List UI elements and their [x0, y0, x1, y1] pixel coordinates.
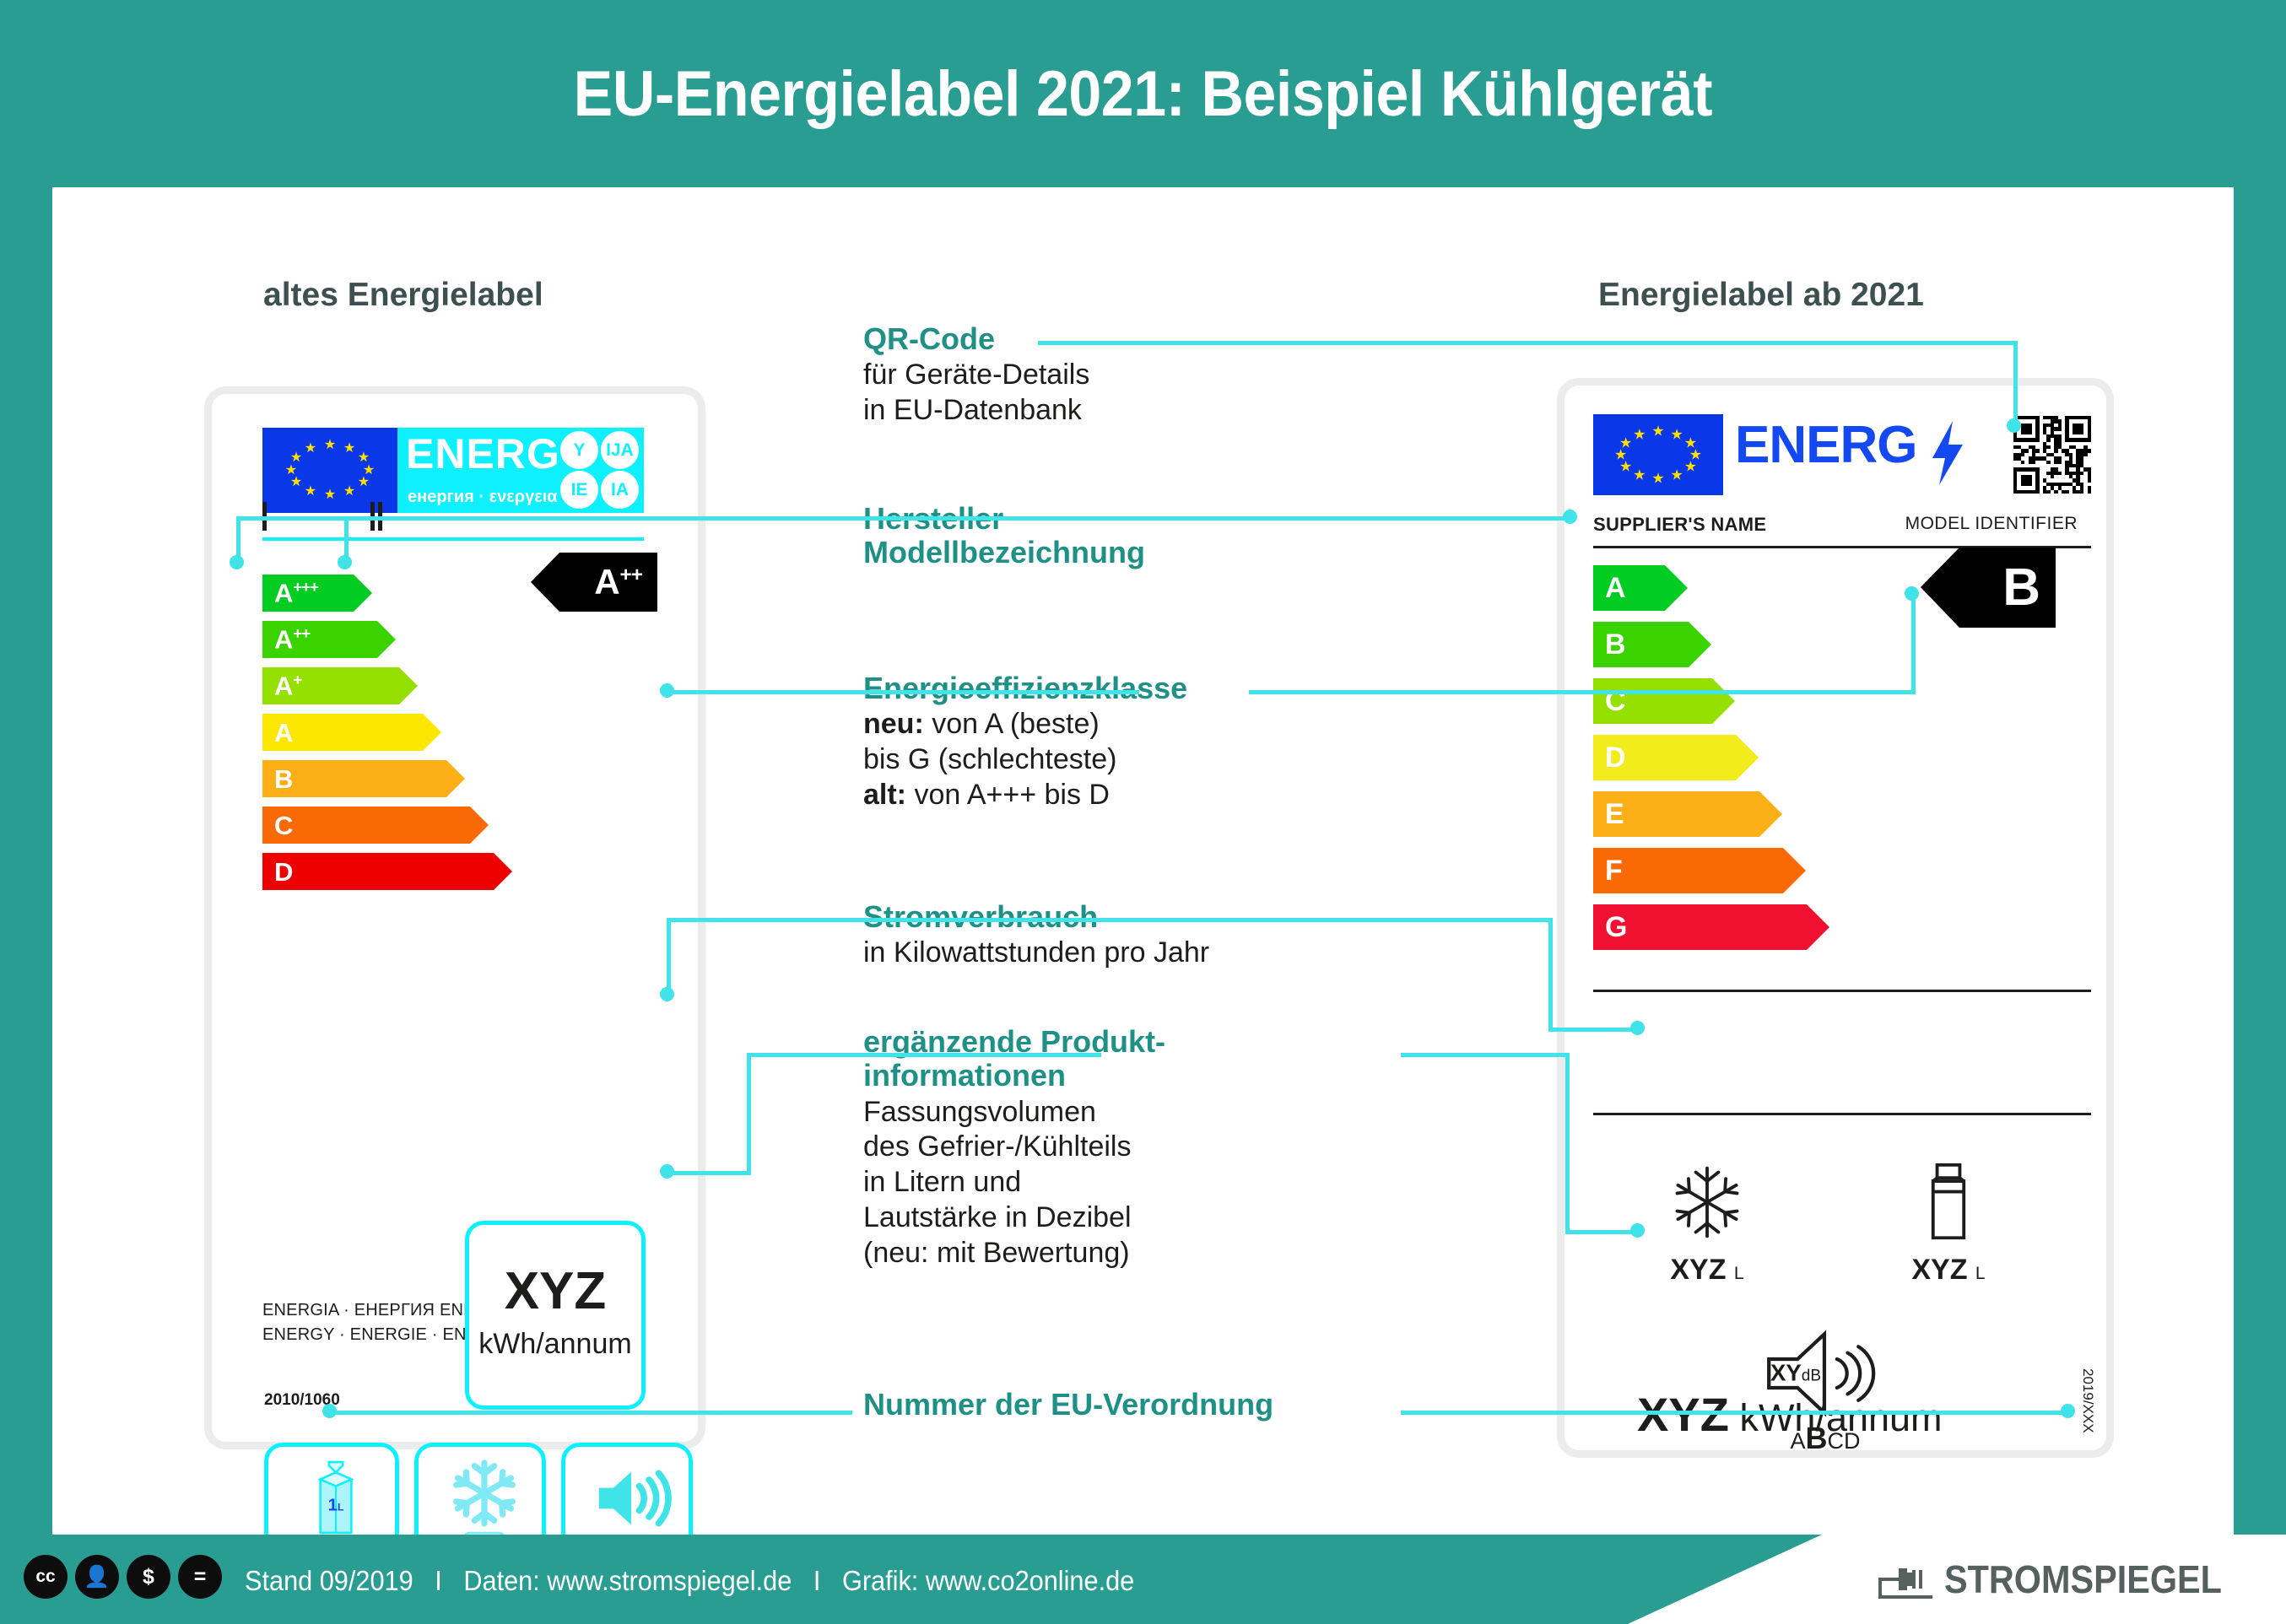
- connector-line-horizontal: [667, 1171, 751, 1175]
- class-arrow-g: G: [1593, 904, 1829, 950]
- class-arrow-label: B: [1593, 630, 1626, 659]
- eu-flag-icon: ★★★★★★★★★★★★: [1593, 414, 1723, 495]
- energ-circle-y: Y: [560, 431, 598, 469]
- annotation-body: neu: von A (beste)bis G (schlechteste)al…: [863, 707, 1319, 812]
- connector-line-horizontal: [1401, 1053, 1570, 1057]
- footer-credits: Stand 09/2019 I Daten: www.stromspiegel.…: [245, 1565, 1134, 1597]
- annotation-regulation: Nummer der EU-Verordnung: [863, 1388, 1386, 1422]
- class-arrow-label: D: [262, 859, 293, 885]
- milk-carton-icon: 1L: [310, 1460, 362, 1538]
- connector-dot: [660, 683, 674, 698]
- old-consumption-value: XYZ: [469, 1265, 641, 1318]
- annotation-title: ergänzende Produkt- informationen: [863, 1025, 1319, 1093]
- connector-line-horizontal: [236, 516, 1122, 521]
- annotation-body: in Kilowattstunden pro Jahr: [863, 936, 1319, 971]
- connector-line-horizontal: [329, 1411, 852, 1415]
- connector-dot: [2061, 1404, 2075, 1418]
- connector-dot: [660, 987, 674, 1001]
- class-arrow-label: G: [1593, 913, 1627, 941]
- old-consumption-unit: kWh/annum: [469, 1330, 641, 1358]
- class-arrow-label: A+: [262, 672, 301, 699]
- new-regulation-number: 2019/XXX: [2079, 1368, 2096, 1433]
- speaker-icon: XYdB: [1758, 1329, 1893, 1418]
- connector-line-horizontal: [1249, 690, 1916, 694]
- connector-line-vertical: [1548, 918, 1553, 1028]
- class-arrow-label: C: [262, 812, 293, 839]
- class-arrow-c: C: [262, 807, 489, 844]
- connector-dot: [1630, 1021, 1645, 1035]
- speaker-icon: [591, 1462, 672, 1535]
- model-identifier: MODEL IDENTIFIER: [1905, 514, 2078, 534]
- qr-code-icon[interactable]: [2013, 416, 2091, 494]
- annotation-body-line: alt: von A+++ bis D: [863, 778, 1319, 813]
- manufacturer-rule: [262, 537, 644, 541]
- energ-wordmark: ENERG: [1735, 419, 1916, 472]
- new-fridge-value: XYZ L: [1868, 1255, 2029, 1284]
- annotation-title: Hersteller Modellbezeichnung: [863, 502, 1319, 570]
- connector-line-vertical: [1911, 593, 1916, 690]
- class-arrow-d: D: [262, 853, 512, 890]
- class-arrow-label: A: [262, 720, 293, 746]
- connector-dot: [1630, 1223, 1645, 1238]
- license-icon-nc: $: [127, 1555, 170, 1599]
- connector-dot: [230, 555, 244, 569]
- old-badge-text: A++: [594, 562, 657, 602]
- connector-dot: [660, 1164, 674, 1179]
- old-energ-banner: ★★★★★★★★★★★★ ENERG енергия · ενεργεια YI…: [262, 428, 644, 513]
- connector-line-horizontal: [747, 1053, 1101, 1057]
- infographic-root: EU-Energielabel 2021: Beispiel Kühlgerät…: [0, 0, 2286, 1624]
- annotation-title: QR-Code: [863, 322, 1319, 356]
- annotation-product-info: ergänzende Produkt- informationen Fassun…: [863, 1025, 1319, 1271]
- class-arrow-label: E: [1593, 800, 1624, 828]
- connector-line-horizontal: [1548, 1028, 1637, 1032]
- energ-cyan-block: ENERG енергия · ενεργεια YIJAIEIA: [397, 428, 644, 513]
- connector-line-horizontal: [667, 918, 1139, 922]
- connector-line-horizontal: [1565, 1230, 1637, 1234]
- class-arrow-a++: A++: [262, 621, 396, 658]
- energ-wordmark: ENERG: [406, 433, 560, 475]
- energ-subtitle: енергия · ενεργεια: [408, 488, 558, 505]
- old-energy-label-card: ★★★★★★★★★★★★ ENERG енергия · ενεργεια YI…: [204, 386, 705, 1449]
- class-arrow-b: B: [1593, 622, 1711, 667]
- energ-language-circles: YIJAIEIA: [560, 431, 640, 509]
- license-icon-cc: cc: [24, 1555, 68, 1599]
- class-arrow-label: A: [1593, 574, 1626, 602]
- class-arrow-f: F: [1593, 848, 1806, 893]
- connector-line-horizontal: [1122, 918, 1553, 922]
- old-consumption-box: XYZ kWh/annum: [465, 1221, 646, 1410]
- footer-bar: cc👤$= Stand 09/2019 I Daten: www.stromsp…: [0, 1535, 2286, 1624]
- annotation-qr-code: QR-Code für Geräte-Details in EU-Datenba…: [863, 322, 1319, 429]
- class-arrow-c: C: [1593, 678, 1735, 724]
- stromspiegel-logo: STROMSPIEGEL: [1873, 1557, 2252, 1602]
- consumption-divider-top: [1593, 990, 2091, 992]
- page-title: EU-Energielabel 2021: Beispiel Kühlgerät: [574, 57, 1712, 131]
- connector-line-horizontal: [667, 690, 1139, 694]
- new-freezer-value: XYZ L: [1627, 1255, 1787, 1284]
- lightning-bolt-icon: [1929, 421, 1966, 485]
- class-arrow-label: B: [262, 766, 293, 792]
- license-icon-by: 👤: [75, 1555, 119, 1599]
- connector-line-vertical: [667, 918, 671, 994]
- annotation-consumption: Stromverbrauch in Kilowattstunden pro Ja…: [863, 900, 1319, 971]
- connector-line-vertical: [2013, 341, 2018, 425]
- new-label-heading: Energielabel ab 2021: [1598, 277, 1924, 314]
- connector-dot: [1905, 586, 1919, 601]
- class-arrow-a+++: A+++: [262, 575, 372, 612]
- power-plug-icon: [1873, 1558, 1932, 1600]
- class-arrow-label: A++: [262, 626, 310, 652]
- eu-flag-icon: ★★★★★★★★★★★★: [262, 428, 397, 513]
- class-arrow-a+: A+: [262, 667, 418, 704]
- connector-line-vertical: [236, 516, 240, 560]
- connector-dot: [2007, 418, 2021, 433]
- connector-line-horizontal: [1401, 1411, 2067, 1415]
- new-energy-label-card: ★★★★★★★★★★★★ ENERG SUPPLIER'S NAME MODEL…: [1557, 378, 2114, 1458]
- energ-circle-ia: IA: [601, 471, 639, 509]
- connector-line-horizontal: [1046, 516, 1570, 521]
- annotation-manufacturer: Hersteller Modellbezeichnung: [863, 502, 1319, 570]
- connector-dot: [322, 1404, 337, 1418]
- milk-carton-icon: [1920, 1162, 1977, 1243]
- old-class-badge: A++: [531, 553, 657, 612]
- noise-rating-scale: ABCD: [1728, 1423, 1922, 1454]
- consumption-divider-bottom: [1593, 1113, 2091, 1115]
- class-arrow-a: A: [1593, 565, 1688, 611]
- snowflake-icon: [1667, 1162, 1748, 1243]
- eu-stars: ★★★★★★★★★★★★: [281, 440, 378, 501]
- snowflake-icon: [446, 1455, 522, 1531]
- connector-line-horizontal: [1038, 341, 2017, 345]
- new-class-badge: B: [1921, 548, 2056, 628]
- license-icon-nd: =: [178, 1555, 222, 1599]
- new-picto-noise: XYdB ABCD: [1728, 1329, 1922, 1422]
- class-arrow-label: F: [1593, 856, 1623, 885]
- annotation-title: Nummer der EU-Verordnung: [863, 1388, 1386, 1422]
- old-label-heading: altes Energielabel: [263, 277, 543, 314]
- energ-circle-ija: IJA: [601, 431, 639, 469]
- new-picto-freezer: XYZ L: [1627, 1162, 1787, 1284]
- new-picto-fridge: XYZ L: [1868, 1162, 2029, 1284]
- connector-line-vertical: [344, 516, 349, 560]
- supplier-name: SUPPLIER'S NAME: [1593, 514, 1766, 536]
- energ-circle-ie: IE: [560, 471, 598, 509]
- class-arrow-a: A: [262, 714, 441, 751]
- brand-name: STROMSPIEGEL: [1944, 1557, 2222, 1602]
- class-arrow-e: E: [1593, 791, 1782, 837]
- class-arrow-label: D: [1593, 743, 1626, 772]
- creative-commons-icons: cc👤$=: [24, 1555, 222, 1599]
- annotation-title: Energieeffizienzklasse: [863, 672, 1319, 705]
- annotation-body-line: bis G (schlechteste): [863, 742, 1319, 778]
- connector-dot: [338, 555, 352, 569]
- class-arrow-label: A+++: [262, 580, 318, 606]
- new-badge-text: B: [2002, 558, 2056, 618]
- annotation-body: für Geräte-Details in EU-Datenbank: [863, 358, 1319, 429]
- eu-stars: ★★★★★★★★★★★★: [1612, 425, 1705, 483]
- class-arrow-d: D: [1593, 735, 1759, 780]
- annotation-body-line: neu: von A (beste): [863, 707, 1319, 742]
- connector-line-vertical: [747, 1053, 751, 1171]
- header-bar: EU-Energielabel 2021: Beispiel Kühlgerät: [0, 0, 2286, 187]
- annotation-body: Fassungsvolumen des Gefrier-/Kühlteils i…: [863, 1095, 1319, 1271]
- connector-line-vertical: [1565, 1053, 1570, 1230]
- svg-text:XYdB: XYdB: [1770, 1359, 1821, 1385]
- class-arrow-b: B: [262, 760, 465, 797]
- connector-dot: [1563, 510, 1577, 524]
